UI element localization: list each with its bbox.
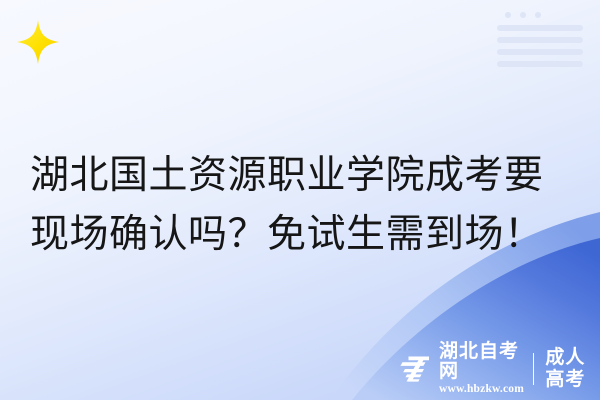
hbzkw-logo-icon — [398, 354, 432, 384]
window-dot-3 — [535, 12, 541, 18]
window-dot-1 — [505, 12, 511, 18]
brand-lockup: 湖北自考网 www.hbzkw.com 成人高考 — [398, 350, 600, 388]
sparkle-star-icon — [14, 18, 62, 66]
brand-tag: 成人高考 — [545, 347, 600, 391]
window-line-3 — [497, 49, 583, 55]
headline-line-1: 湖北国土资源职业学院成考要 — [30, 146, 575, 205]
window-dot-2 — [520, 12, 526, 18]
brand-divider — [533, 353, 534, 385]
window-line-1 — [497, 25, 583, 31]
window-dots — [505, 12, 583, 18]
brand-text-block: 湖北自考网 www.hbzkw.com — [439, 342, 524, 396]
window-line-4 — [497, 61, 583, 67]
window-lines-icon — [497, 12, 583, 68]
brand-name: 湖北自考网 — [439, 342, 524, 382]
headline-line-2: 现场确认吗？免试生需到场！ — [30, 205, 575, 264]
brand-url: www.hbzkw.com — [439, 382, 524, 396]
promo-banner: 湖北国土资源职业学院成考要 现场确认吗？免试生需到场！ 湖北自考网 www.hb… — [0, 0, 600, 400]
window-line-2 — [497, 37, 583, 43]
headline: 湖北国土资源职业学院成考要 现场确认吗？免试生需到场！ — [30, 146, 575, 264]
